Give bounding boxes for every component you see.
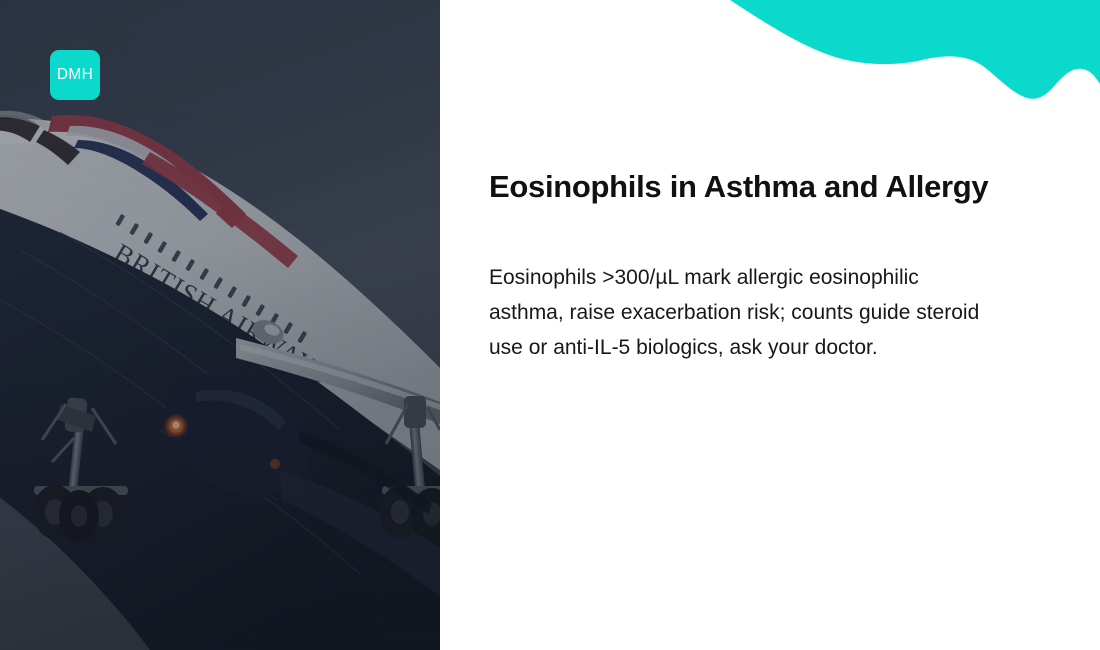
- page-title: Eosinophils in Asthma and Allergy: [489, 168, 1049, 206]
- text-content-column: Eosinophils in Asthma and Allergy Eosino…: [489, 0, 1034, 650]
- brand-logo-badge[interactable]: DMH: [50, 50, 100, 100]
- brand-logo-initials: DMH: [57, 67, 93, 83]
- slide-root: BRITISH AIRWAYS: [0, 0, 1100, 650]
- body-paragraph: Eosinophils >300/µL mark allergic eosino…: [489, 260, 999, 365]
